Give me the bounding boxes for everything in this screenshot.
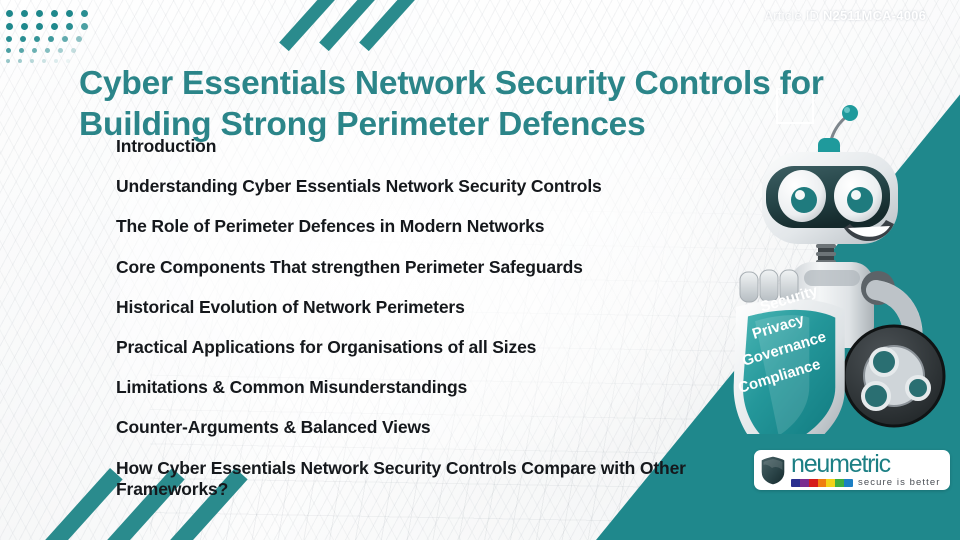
toc-item-historical-evolution[interactable]: Historical Evolution of Network Perimete… (116, 297, 736, 319)
robot-mascot: Security Privacy Governance Compliance (726, 104, 960, 434)
toc-item-understanding[interactable]: Understanding Cyber Essentials Network S… (116, 176, 736, 198)
article-id-label: Article ID (764, 8, 819, 23)
rainbow-segment (800, 479, 809, 487)
rainbow-segment (809, 479, 818, 487)
logo-wordmark: neumetric (791, 452, 944, 477)
diagonal-stripes-top (330, 0, 450, 42)
presentation-slide: Article ID N2511MCA-4006 Cyber Essential… (0, 0, 960, 540)
rainbow-segment (826, 479, 835, 487)
robot-wheel (844, 326, 944, 426)
logo-tagline: secure is better (858, 478, 941, 488)
article-id-value: N2511MCA-4006 (823, 8, 926, 23)
logo-text-block: neumetric secure is better (791, 452, 944, 488)
robot-head (762, 152, 898, 244)
toc-item-role-of-perimeter[interactable]: The Role of Perimeter Defences in Modern… (116, 216, 736, 238)
neumetric-logo[interactable]: neumetric secure is better (754, 450, 950, 490)
rainbow-segment (791, 479, 800, 487)
toc-item-introduction[interactable]: Introduction (116, 136, 736, 158)
table-of-contents: Introduction Understanding Cyber Essenti… (116, 136, 736, 519)
toc-item-compare-frameworks[interactable]: How Cyber Essentials Network Security Co… (116, 458, 736, 501)
toc-item-practical-applications[interactable]: Practical Applications for Organisations… (116, 337, 736, 359)
article-id: Article ID N2511MCA-4006 (764, 8, 926, 23)
page-title-line1: Cyber Essentials Network Security Contro… (79, 65, 824, 102)
logo-shield-icon (760, 455, 786, 486)
rainbow-segment (844, 479, 853, 487)
toc-item-counter-arguments[interactable]: Counter-Arguments & Balanced Views (116, 417, 736, 439)
security-shield: Security Privacy Governance Compliance (734, 282, 845, 434)
rainbow-bar-icon (791, 479, 853, 487)
logo-bottom-row: secure is better (791, 478, 944, 488)
toc-item-core-components[interactable]: Core Components That strengthen Perimete… (116, 257, 736, 279)
rainbow-segment (818, 479, 827, 487)
toc-item-limitations[interactable]: Limitations & Common Misunderstandings (116, 377, 736, 399)
rainbow-segment (835, 479, 844, 487)
dot-grid-decoration (6, 4, 96, 63)
